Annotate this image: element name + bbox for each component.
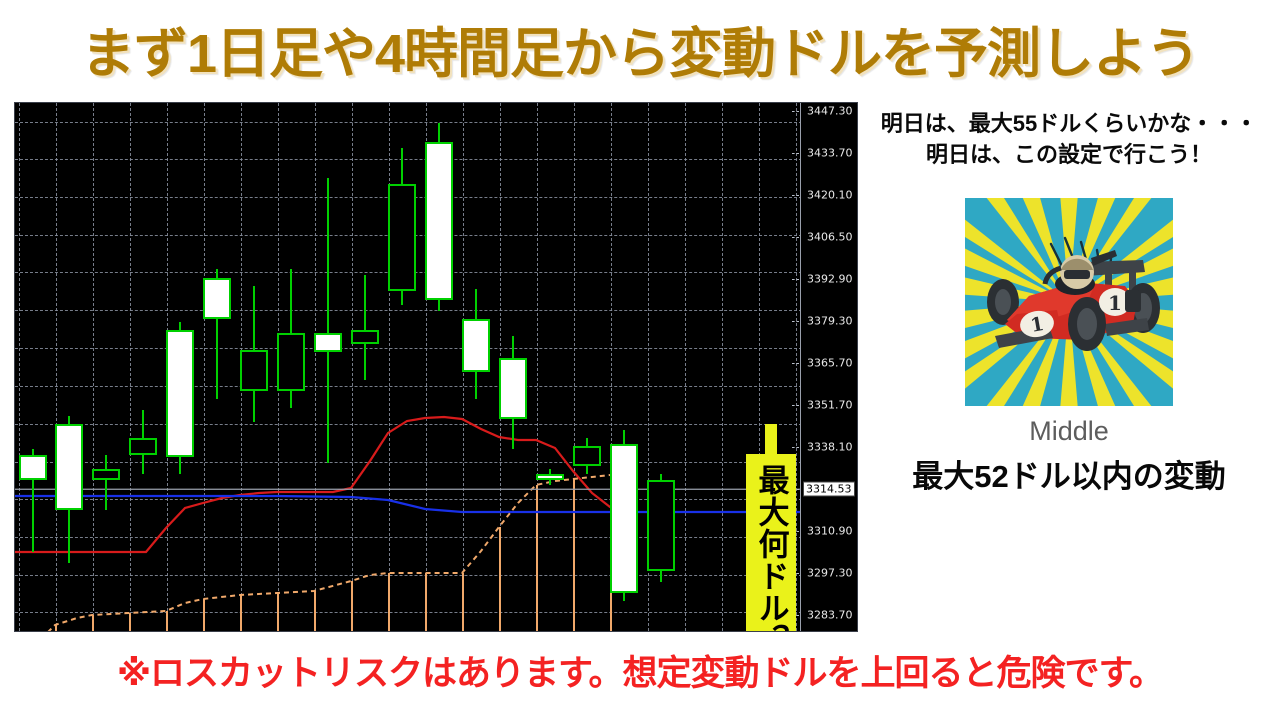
price-axis-tick: 3406.50 bbox=[807, 231, 853, 244]
page-title-bar: まず1日足や4時間足から変動ドルを予測しよう bbox=[0, 4, 1280, 92]
price-axis-tick-mark bbox=[792, 363, 799, 364]
callout-label: 最大何ドル？ bbox=[756, 464, 787, 632]
price-chart-panel[interactable]: 3447.303433.703420.103406.503392.903379.… bbox=[14, 102, 858, 632]
price-axis-tick: 3297.30 bbox=[807, 567, 853, 580]
chart-plot-area[interactable] bbox=[15, 103, 802, 631]
candle-body bbox=[388, 184, 416, 292]
max-range-callout: 最大何ドル？ bbox=[746, 424, 796, 632]
candle-body bbox=[129, 438, 157, 455]
series-moving-average bbox=[15, 417, 629, 552]
candle-body bbox=[55, 424, 83, 510]
candle-body bbox=[277, 333, 305, 391]
price-axis-tick: 3379.30 bbox=[807, 315, 853, 328]
race-car-illustration: 1 1 bbox=[965, 198, 1173, 406]
price-axis-tick: 3283.70 bbox=[807, 609, 853, 622]
candle-body bbox=[425, 142, 453, 300]
candle-body bbox=[240, 350, 268, 392]
price-axis-tick-mark bbox=[792, 279, 799, 280]
candle-body bbox=[610, 444, 638, 593]
price-axis-tick: 3420.10 bbox=[807, 189, 853, 202]
callout-body: 最大何ドル？ bbox=[746, 454, 796, 632]
page-title: まず1日足や4時間足から変動ドルを予測しよう bbox=[81, 9, 1199, 88]
candle-wick bbox=[327, 178, 329, 463]
candle-body bbox=[573, 446, 601, 465]
price-axis-tick-mark bbox=[792, 405, 799, 406]
price-axis-tick: 3338.10 bbox=[807, 441, 853, 454]
forecast-note: 明日は、最大55ドルくらいかな・・・ 明日は、この設定で行こう！ bbox=[858, 100, 1280, 170]
candle-body bbox=[19, 455, 47, 480]
settings-summary-panel: 明日は、最大55ドルくらいかな・・・ 明日は、この設定で行こう！ bbox=[858, 100, 1280, 640]
race-car-icon: 1 1 bbox=[965, 198, 1173, 406]
max-range-label: 最大52ドル以内の変動 bbox=[858, 451, 1280, 496]
price-axis-tick-mark bbox=[792, 321, 799, 322]
price-axis-tick: 3310.90 bbox=[807, 525, 853, 538]
svg-text:1: 1 bbox=[1108, 291, 1122, 315]
price-axis-tick: 3351.70 bbox=[807, 399, 853, 412]
candle-body bbox=[647, 480, 675, 571]
price-axis-tick-mark bbox=[792, 153, 799, 154]
candle-body bbox=[462, 319, 490, 372]
price-axis-tick: 3392.90 bbox=[807, 273, 853, 286]
price-axis-tick: 3365.70 bbox=[807, 357, 853, 370]
risk-level-label: Middle bbox=[858, 416, 1280, 447]
candle-body bbox=[499, 358, 527, 419]
risk-warning-text: ※ロスカットリスクはあります。想定変動ドルを上回ると危険です。 bbox=[0, 645, 1280, 696]
price-axis-tick-mark bbox=[792, 111, 799, 112]
price-axis-tick-mark bbox=[792, 237, 799, 238]
candle-body bbox=[166, 330, 194, 457]
candle-body bbox=[203, 278, 231, 320]
price-axis-tick: 3447.30 bbox=[807, 105, 853, 118]
candle-body bbox=[92, 469, 120, 480]
chart-line-series bbox=[15, 103, 802, 631]
current-price-label: 3314.53 bbox=[803, 482, 855, 497]
forecast-note-line-2: 明日は、この設定で行こう！ bbox=[858, 139, 1280, 170]
candle-body bbox=[314, 333, 342, 352]
candle-wick bbox=[364, 275, 366, 380]
price-axis[interactable]: 3447.303433.703420.103406.503392.903379.… bbox=[800, 103, 857, 631]
candle-wick bbox=[105, 455, 107, 510]
price-axis-tick: 3433.70 bbox=[807, 147, 853, 160]
price-axis-tick-mark bbox=[792, 195, 799, 196]
forecast-note-line-1: 明日は、最大55ドルくらいかな・・・ bbox=[858, 108, 1280, 139]
series-baseline bbox=[15, 496, 802, 512]
candle-body bbox=[536, 474, 564, 480]
candle-body bbox=[351, 330, 379, 344]
